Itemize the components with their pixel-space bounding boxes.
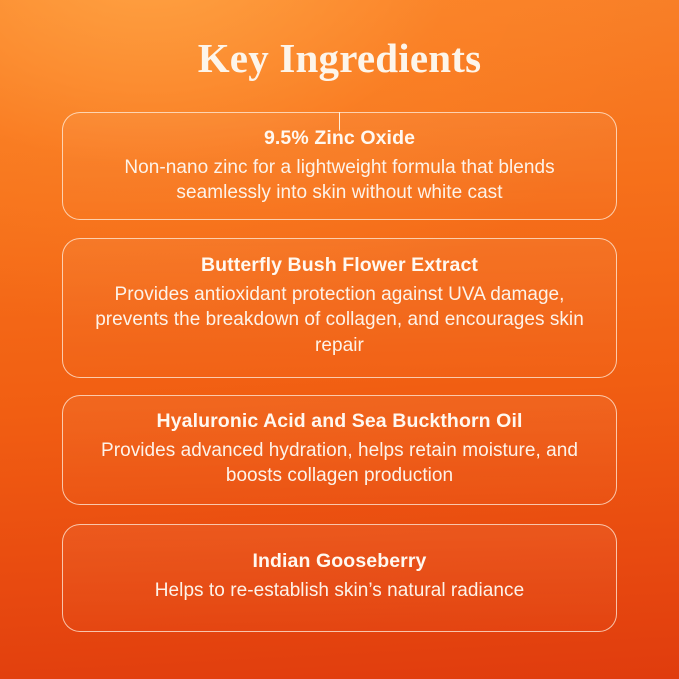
ingredient-description: Provides advanced hydration, helps retai…	[89, 438, 590, 488]
ingredient-description: Non-nano zinc for a lightweight formula …	[89, 155, 590, 205]
ingredient-name: Butterfly Bush Flower Extract	[89, 253, 590, 278]
card-connector-line	[339, 112, 340, 131]
ingredient-description: Helps to re-establish skin’s natural rad…	[89, 578, 590, 603]
ingredient-card-wrap: Hyaluronic Acid and Sea Buckthorn Oil Pr…	[62, 395, 617, 505]
ingredient-card[interactable]: Butterfly Bush Flower Extract Provides a…	[62, 238, 617, 378]
ingredient-card-wrap: Indian Gooseberry Helps to re-establish …	[62, 524, 617, 632]
ingredient-card-stack: 9.5% Zinc Oxide Non-nano zinc for a ligh…	[62, 112, 617, 632]
ingredient-card-wrap: Butterfly Bush Flower Extract Provides a…	[62, 238, 617, 378]
ingredient-description: Provides antioxidant protection against …	[89, 282, 590, 357]
ingredient-name: Indian Gooseberry	[89, 549, 590, 574]
card-gap	[62, 378, 617, 395]
page-title: Key Ingredients	[0, 36, 679, 80]
ingredient-card[interactable]: Indian Gooseberry Helps to re-establish …	[62, 524, 617, 632]
ingredient-name: Hyaluronic Acid and Sea Buckthorn Oil	[89, 409, 590, 434]
key-ingredients-poster: Key Ingredients 9.5% Zinc Oxide Non-nano…	[0, 0, 679, 679]
card-gap	[62, 220, 617, 238]
card-gap	[62, 505, 617, 524]
ingredient-card[interactable]: Hyaluronic Acid and Sea Buckthorn Oil Pr…	[62, 395, 617, 505]
